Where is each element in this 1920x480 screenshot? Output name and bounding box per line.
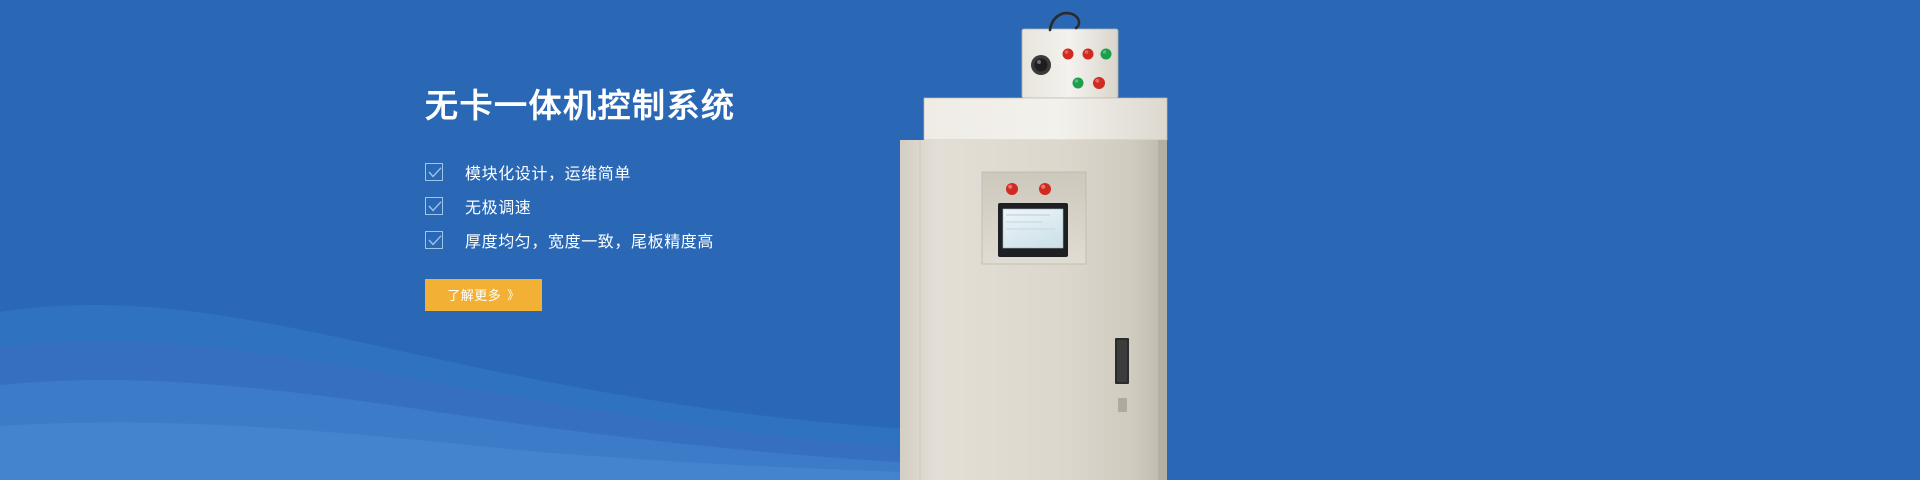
check-icon	[425, 231, 443, 249]
learn-more-label: 了解更多	[447, 285, 501, 304]
chevron-right-icon: 》	[507, 286, 520, 303]
check-icon	[425, 163, 443, 181]
list-item-label: 模块化设计，运维简单	[465, 160, 631, 184]
hero-banner: 无卡一体机控制系统 模块化设计，运维简单 无极调速	[0, 0, 1920, 480]
check-icon	[425, 197, 443, 215]
learn-more-button[interactable]: 了解更多 》	[425, 279, 542, 311]
list-item-label: 厚度均匀，宽度一致，尾板精度高	[465, 228, 714, 252]
control-cabinet-image	[900, 0, 1200, 480]
list-item-label: 无极调速	[465, 194, 531, 218]
